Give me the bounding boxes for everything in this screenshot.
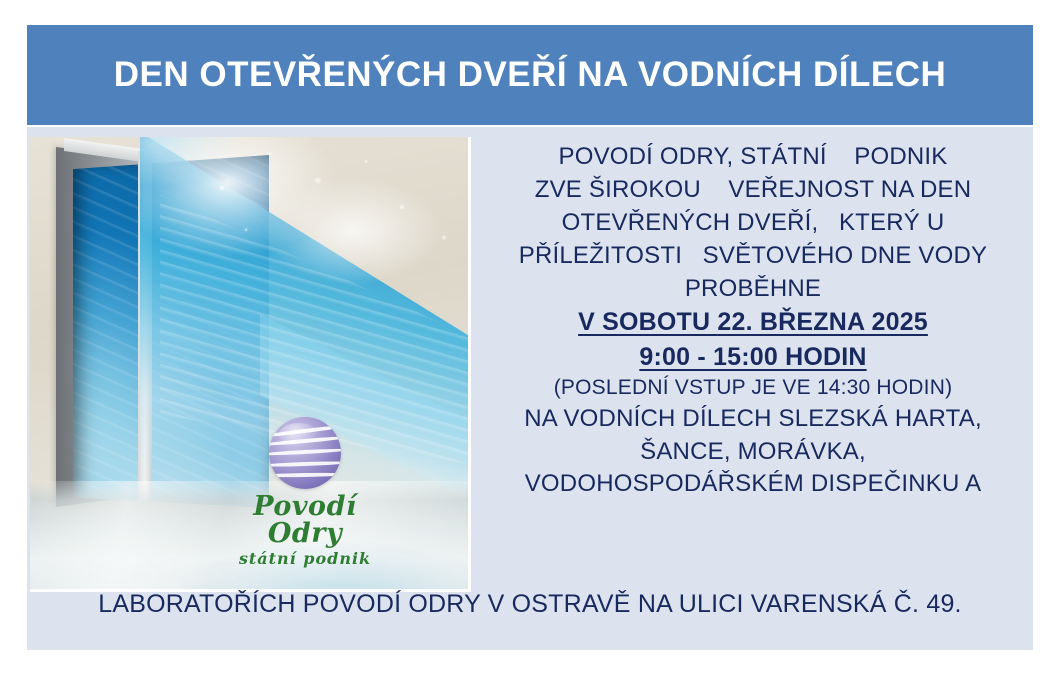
body-line-2: ZVE ŠIROKOU VEŘEJNOST NA DEN (475, 174, 1031, 207)
event-day: V SOBOTU (578, 308, 717, 336)
globe-stripe (269, 472, 341, 478)
body-line-4: PŘÍLEŽITOSTI SVĚTOVÉHO DNE VODY (475, 240, 1031, 273)
globe-gloss (279, 423, 319, 447)
wave-spray-droplets (180, 137, 468, 321)
wave-door-photo: Povodí Odry státní podnik (30, 137, 471, 592)
address-line: LABORATOŘÍCH POVODÍ ODRY V OSTRAVĚ NA UL… (27, 590, 1033, 619)
event-time: 9:00 - 15:00 HODIN (639, 343, 866, 371)
body-line-5: PROBĚHNE (475, 273, 1031, 306)
last-entry-note: (POSLEDNÍ VSTUP JE VE 14:30 HODIN) (475, 374, 1031, 403)
logo-company-subtitle: státní podnik (215, 549, 395, 568)
location-line-1: NA VODNÍCH DÍLECH SLEZSKÁ HARTA, (475, 403, 1031, 436)
poster: DEN OTEVŘENÝCH DVEŘÍ NA VODNÍCH DÍLECH (0, 0, 1063, 675)
event-time-line: 9:00 - 15:00 HODIN (475, 340, 1031, 374)
event-date-line: V SOBOTU 22. BŘEZNA 2025 (475, 305, 1031, 339)
location-line-3: VODOHOSPODÁŘSKÉM DISPEČINKU A (475, 468, 1031, 501)
page-title: DEN OTEVŘENÝCH DVEŘÍ NA VODNÍCH DÍLECH (114, 55, 947, 95)
globe-icon (269, 417, 341, 489)
body-line-3: OTEVŘENÝCH DVEŘÍ, KTERÝ U (475, 207, 1031, 240)
logo-company-name: Povodí Odry (215, 493, 395, 547)
povodi-odry-logo: Povodí Odry státní podnik (215, 417, 395, 567)
globe-stripe (269, 460, 341, 467)
globe-stripe (269, 448, 341, 457)
content-panel: Povodí Odry státní podnik POVODÍ ODRY, S… (27, 127, 1033, 650)
location-line-2: ŠANCE, MORÁVKA, (475, 436, 1031, 469)
announcement-text: POVODÍ ODRY, STÁTNÍ PODNIK ZVE ŠIROKOU V… (475, 141, 1031, 501)
body-line-1: POVODÍ ODRY, STÁTNÍ PODNIK (475, 141, 1031, 174)
header-band: DEN OTEVŘENÝCH DVEŘÍ NA VODNÍCH DÍLECH (27, 25, 1033, 125)
event-date: 22. BŘEZNA 2025 (717, 308, 928, 336)
